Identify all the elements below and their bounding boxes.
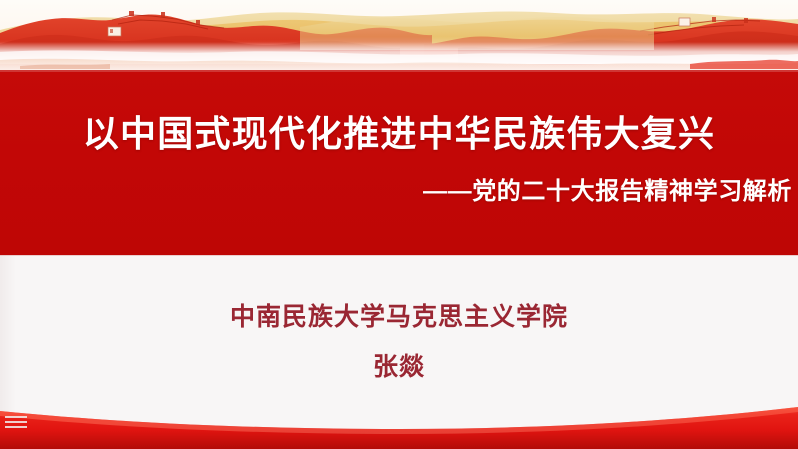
- presentation-title-slide: 以中国式现代化推进中华民族伟大复兴 ——党的二十大报告精神学习解析 中南民族大学…: [0, 0, 798, 449]
- mountain-great-wall-illustration: [0, 0, 798, 71]
- slide-content-area: 中南民族大学马克思主义学院 张燚: [0, 255, 798, 449]
- left-edge-sheen: [0, 255, 16, 449]
- presenter-name: 张燚: [0, 355, 798, 380]
- page-title: 以中国式现代化推进中华民族伟大复兴: [0, 116, 798, 152]
- page-subtitle: ——党的二十大报告精神学习解析: [423, 180, 792, 204]
- affiliation-text: 中南民族大学马克思主义学院: [0, 305, 798, 330]
- title-red-band: 以中国式现代化推进中华民族伟大复兴 ——党的二十大报告精神学习解析: [0, 70, 798, 255]
